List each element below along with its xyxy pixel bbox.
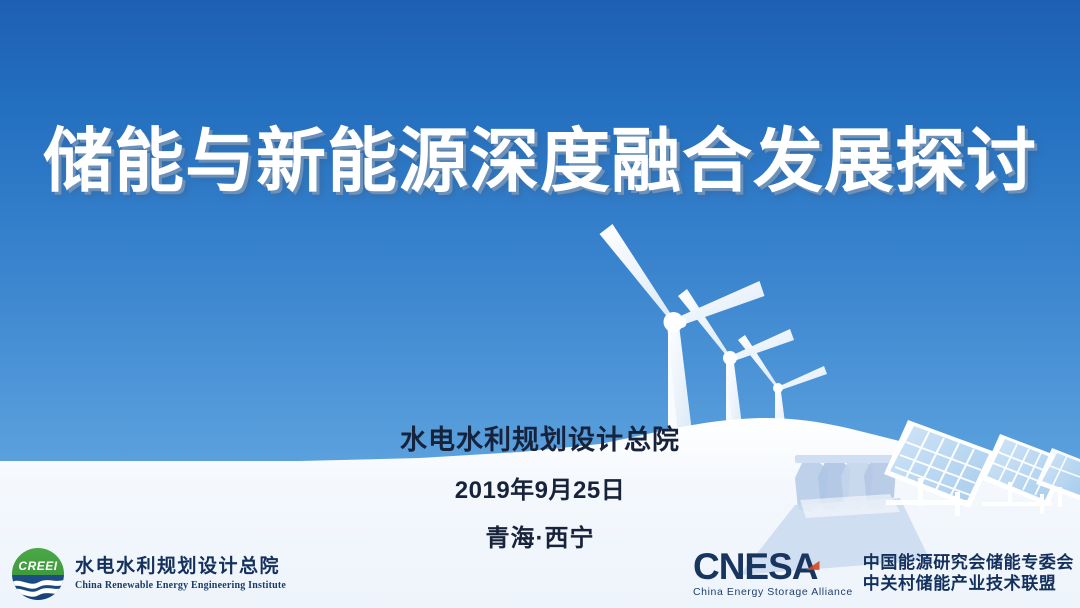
subtitle-container: 水电水利规划设计总院 2019年9月25日 青海·西宁 <box>0 418 1080 553</box>
cnesa-logo: CNESA China Energy Storage Alliance 中国能源… <box>693 549 1074 598</box>
wave-icon <box>12 572 64 600</box>
creei-logo: CREEI 水电水利规划设计总院 China Renewable Energy … <box>12 548 286 600</box>
creei-badge-text: CREEI <box>12 559 64 573</box>
cnesa-wordmark: CNESA <box>693 549 818 584</box>
cnesa-wordmark-block: CNESA China Energy Storage Alliance <box>693 549 853 598</box>
subtitle-date: 2019年9月25日 <box>0 470 1080 505</box>
cnesa-accent-icon <box>807 561 820 570</box>
subtitle-organization: 水电水利规划设计总院 <box>0 418 1080 457</box>
slide-title: 储能与新能源深度融合发展探讨 <box>43 124 1037 200</box>
title-container: 储能与新能源深度融合发展探讨 <box>0 124 1080 200</box>
creei-name-en: China Renewable Energy Engineering Insti… <box>75 580 286 592</box>
cnesa-name-en: China Energy Storage Alliance <box>693 586 853 598</box>
creei-name-cn: 水电水利规划设计总院 <box>75 556 286 578</box>
cnesa-name-cn-block: 中国能源研究会储能专委会 中关村储能产业技术联盟 <box>863 553 1074 594</box>
presentation-slide: 储能与新能源深度融合发展探讨 水电水利规划设计总院 2019年9月25日 青海·… <box>0 0 1080 608</box>
cnesa-name-cn-line1: 中国能源研究会储能专委会 <box>863 553 1074 573</box>
creei-name-block: 水电水利规划设计总院 China Renewable Energy Engine… <box>75 556 286 592</box>
cnesa-name-cn-line2: 中关村储能产业技术联盟 <box>863 574 1074 594</box>
creei-badge-icon: CREEI <box>12 548 64 600</box>
